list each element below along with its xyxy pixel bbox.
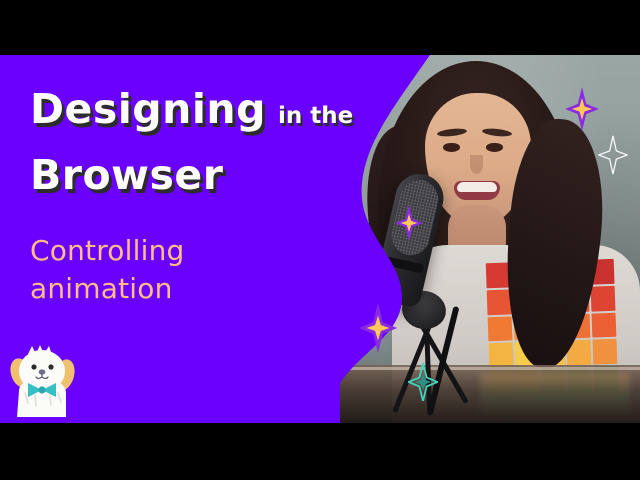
dog-mascot-logo-icon (6, 343, 80, 417)
title-word-designing: Designing (30, 85, 266, 133)
nose (470, 155, 483, 174)
title-line-2: Browser (30, 153, 223, 197)
eye-left (443, 143, 460, 152)
desk-reflection (480, 373, 630, 417)
mic-ring (384, 256, 425, 274)
desk-edge (340, 367, 640, 370)
sparkle-purple-gold-top-right-icon (565, 87, 599, 131)
sparkle-teal-mic-base-icon (408, 363, 438, 401)
sparkle-white-outline-icon (598, 135, 628, 175)
color-swatch-1-0 (487, 289, 512, 315)
title-word-in-the: in the (278, 103, 353, 129)
color-swatch-2-0 (488, 316, 513, 342)
video-frame: Designingin the Browser Controlling anim… (0, 0, 640, 480)
letterbox-bar-bottom (0, 423, 640, 480)
color-swatch-3-4 (592, 339, 617, 365)
color-swatch-2-4 (592, 312, 617, 338)
title-line-1: Designingin the (30, 87, 353, 138)
video-content-band: Designingin the Browser Controlling anim… (0, 55, 640, 423)
letterbox-bar-top (0, 0, 640, 55)
eye-right (486, 143, 503, 152)
color-swatch-1-4 (591, 286, 616, 312)
glass-desk (340, 365, 640, 423)
smiling-mouth (454, 181, 500, 200)
subtitle-line-2: animation (30, 271, 173, 307)
sparkle-purple-gold-mid-left-icon (358, 303, 398, 353)
subtitle-line-1: Controlling (30, 233, 185, 269)
teeth (457, 182, 497, 192)
sparkle-purple-gold-upper-mic-icon (395, 205, 423, 241)
